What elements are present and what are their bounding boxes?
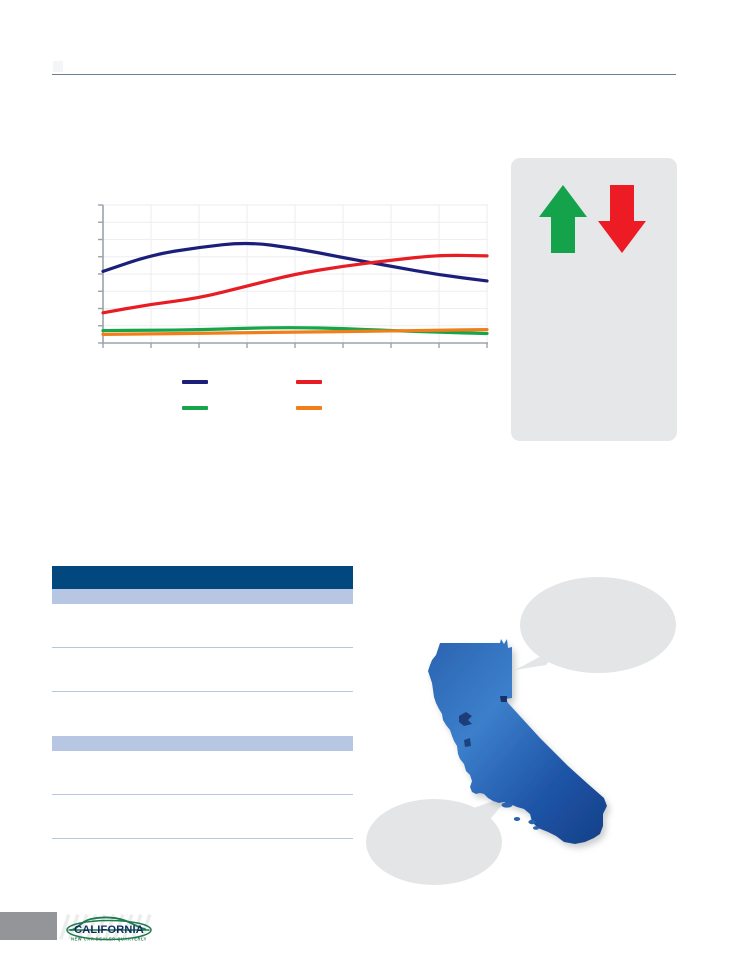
line-chart xyxy=(95,203,490,351)
footer-page-block xyxy=(0,912,57,940)
table-row[interactable] xyxy=(52,751,353,795)
arrow-up-icon xyxy=(537,183,589,255)
legend-swatch-orange-icon xyxy=(296,406,322,410)
table-row[interactable] xyxy=(52,692,353,736)
footer-logo-svg: CALIFORNIA NEW CAR DEALER QUARTERLY xyxy=(57,910,162,946)
legend-entry-3 xyxy=(296,406,328,410)
legend-swatch-red-icon xyxy=(296,380,322,384)
california-map-figure xyxy=(360,570,690,895)
trend-arrows xyxy=(537,183,651,255)
chart-x-ticks xyxy=(103,343,487,348)
legend-entry-0 xyxy=(182,380,214,384)
chart-legend xyxy=(182,380,347,420)
legend-entry-1 xyxy=(296,380,328,384)
page-root: CALIFORNIA NEW CAR DEALER QUARTERLY xyxy=(0,0,741,960)
table-subhead-b xyxy=(52,736,353,751)
table-row[interactable] xyxy=(52,648,353,692)
legend-swatch-navy-icon xyxy=(182,380,208,384)
speech-bubble-bottom-left xyxy=(366,795,510,885)
table-row[interactable] xyxy=(52,839,353,883)
logo-secondary-text: NEW CAR DEALER QUARTERLY xyxy=(71,937,147,942)
legend-entry-2 xyxy=(182,406,214,410)
table-row[interactable] xyxy=(52,604,353,648)
data-table xyxy=(52,566,353,883)
footer-logo[interactable]: CALIFORNIA NEW CAR DEALER QUARTERLY xyxy=(57,910,162,946)
header-rule xyxy=(52,74,676,75)
table-subhead-a xyxy=(52,589,353,604)
highlight-panel xyxy=(511,158,677,441)
table-header-row xyxy=(52,566,353,589)
table-row[interactable] xyxy=(52,795,353,839)
header-mark xyxy=(53,61,63,72)
speech-bubble-top-right xyxy=(515,577,676,673)
arrow-down-icon xyxy=(596,183,648,255)
california-map-svg xyxy=(360,570,690,895)
logo-primary-text: CALIFORNIA xyxy=(74,924,144,936)
line-chart-svg xyxy=(95,203,490,351)
legend-swatch-green-icon xyxy=(182,406,208,410)
